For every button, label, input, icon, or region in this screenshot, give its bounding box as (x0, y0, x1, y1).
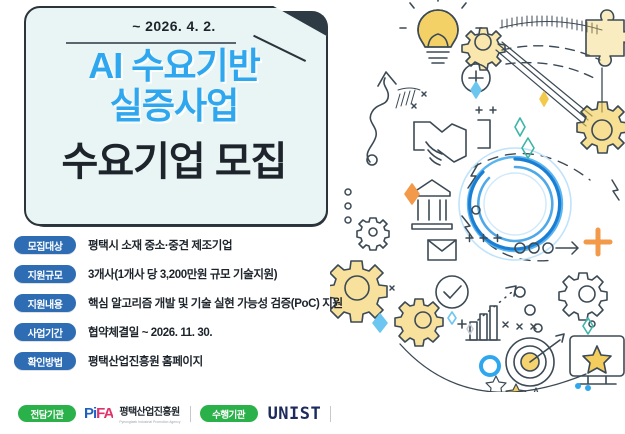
target-icon (506, 334, 564, 386)
ai-center-graphic (459, 148, 571, 260)
dashed-arc-top (502, 46, 600, 78)
check-circle-icon (436, 276, 468, 308)
ai-doodle-illustration (330, 0, 625, 392)
footer-separator-1 (190, 406, 191, 422)
info-row-target: 모집대상 평택시 소재 중소·중견 제조기업 (14, 232, 354, 258)
title-line-1: AI 수요기반 (24, 46, 324, 86)
pifa-name-ko: 평택산업진흥원 (119, 407, 179, 418)
role-pill-exec: 수행기관 (200, 405, 258, 422)
unist-wordmark-icon: UNIST (268, 404, 322, 424)
info-text-howto: 평택산업진흥원 홈페이지 (88, 353, 203, 369)
bar-chart-icon (458, 306, 500, 340)
date-underline (66, 42, 236, 44)
gear-icon-right (577, 102, 625, 153)
pifa-name-block: 평택산업진흥원 Pyeongtaek Industrial Promotion … (119, 403, 180, 424)
pifa-logo: PiFA 평택산업진흥원 Pyeongtaek Industrial Promo… (84, 403, 181, 424)
card-date-row: ~ 2026. 4. 2. (24, 18, 324, 36)
info-text-period: 협약체결일 ~ 2026. 11. 30. (88, 324, 212, 340)
title-blue-block: AI 수요기반 실증사업 (24, 46, 324, 126)
zigzag-marks (462, 164, 619, 237)
poster-canvas: ~ 2026. 4. 2. AI 수요기반 실증사업 수요기업 모집 모집대상 … (0, 0, 625, 434)
footer-separator-2 (330, 406, 331, 422)
bank-icon (412, 180, 452, 229)
gear-icon-top (462, 28, 505, 70)
badge-period: 사업기간 (14, 323, 76, 341)
info-text-scale: 3개사(1개사 당 3,200만원 규모 기술지원) (88, 266, 277, 282)
headline-card: ~ 2026. 4. 2. AI 수요기반 실증사업 수요기업 모집 (24, 6, 324, 224)
sparkle-marks (373, 82, 593, 334)
envelope-icon (428, 240, 456, 260)
title-line-2: 실증사업 (24, 86, 324, 126)
pifa-wordmark-icon: PiFA (84, 405, 113, 422)
info-row-howto: 확인방법 평택산업진흥원 홈페이지 (14, 348, 354, 374)
lightbulb-icon (400, 0, 482, 63)
hatch-comb-top (500, 16, 602, 34)
squiggle-arrow-icon (367, 72, 396, 165)
info-text-content: 핵심 알고리즘 개발 및 기술 실현 가능성 검증(PoC) 지원 (88, 295, 343, 311)
dotted-rising-arrow (478, 286, 542, 332)
blue-ring-icon (481, 357, 499, 375)
blue-dots (575, 383, 591, 391)
plus-circle-icon (462, 64, 490, 92)
info-text-target: 평택시 소재 중소·중견 제조기업 (88, 237, 232, 253)
info-row-scale: 지원규모 3개사(1개사 당 3,200만원 규모 기술지원) (14, 261, 354, 287)
badge-howto: 확인방법 (14, 352, 76, 370)
deadline-date: ~ 2026. 4. 2. (132, 18, 215, 34)
hatch-marks-left (396, 88, 420, 108)
info-row-content: 지원내용 핵심 알고리즘 개발 및 기술 실현 가능성 검증(PoC) 지원 (14, 290, 354, 316)
badge-content: 지원내용 (14, 294, 76, 312)
handshake-icon (414, 120, 490, 165)
scatter-marks (345, 92, 595, 329)
title-line-3: 수요기업 모집 (24, 140, 324, 184)
info-row-period: 사업기간 협약체결일 ~ 2026. 11. 30. (14, 319, 354, 345)
pifa-name-en: Pyeongtaek Industrial Promotion Agency (119, 421, 180, 424)
connector-beams (496, 42, 592, 126)
info-list: 모집대상 평택시 소재 중소·중견 제조기업 지원규모 3개사(1개사 당 3,… (14, 232, 354, 377)
puzzle-icon (586, 10, 625, 66)
gear-icon-bottom-right (559, 273, 607, 320)
dashed-orbit (472, 154, 590, 261)
badge-scale: 지원규모 (14, 265, 76, 283)
role-pill-host: 전담기관 (18, 405, 76, 422)
gear-icon-small-top (357, 218, 389, 250)
monitor-star-icon (570, 336, 624, 384)
badge-target: 모집대상 (14, 236, 76, 254)
swoosh-bottom (400, 344, 586, 392)
footer-organizations: 전담기관 PiFA 평택산업진흥원 Pyeongtaek Industrial … (18, 403, 340, 424)
gear-icon-bottom-mid (395, 299, 443, 346)
orange-plus-icon (586, 230, 610, 254)
star-cluster-icon (486, 376, 544, 392)
